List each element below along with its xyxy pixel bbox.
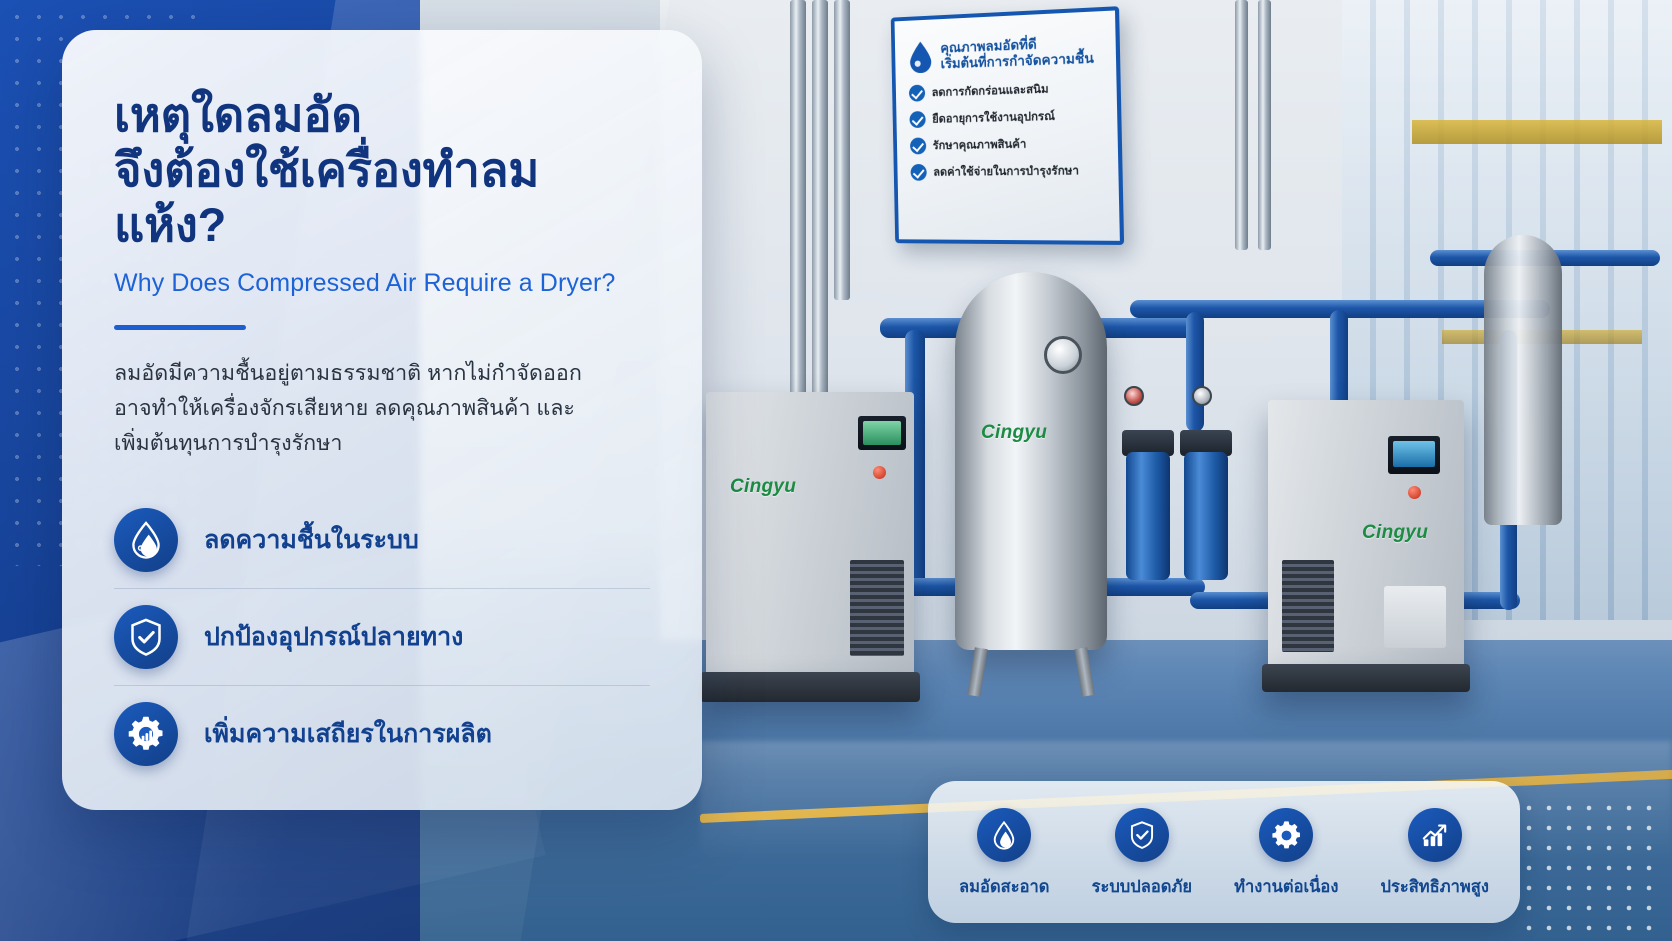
feature-item-protection: ปกป้องอุปกรณ์ปลายทาง bbox=[114, 588, 650, 685]
pressure-gauge bbox=[1044, 336, 1082, 374]
emergency-stop-button bbox=[873, 466, 886, 479]
filter-gauge bbox=[1192, 386, 1212, 406]
brand-logo-compressor: Cingyu bbox=[730, 476, 796, 498]
compressor-base bbox=[700, 672, 920, 702]
feature-item-stability: เพิ่มความเสถียรในการผลิต bbox=[114, 685, 650, 782]
sign-item-label: ลดการกัดกร่อนและสนิม bbox=[932, 80, 1049, 102]
filter-gauge bbox=[1124, 386, 1144, 406]
water-drop-icon bbox=[977, 808, 1031, 862]
sign-header: คุณภาพลมอัดที่ดี เริ่มต้นที่การกำจัดความ… bbox=[908, 34, 1104, 75]
sign-list-item: ลดการกัดกร่อนและสนิม bbox=[909, 79, 1104, 103]
benefit-label: ทำงานต่อเนื่อง bbox=[1234, 874, 1338, 900]
background-tank bbox=[1484, 235, 1562, 525]
check-circle-icon bbox=[909, 85, 925, 102]
benefit-label: ลมอัดสะอาด bbox=[959, 874, 1049, 900]
air-filter-vessel bbox=[1184, 452, 1228, 580]
air-receiver-tank: Cingyu bbox=[955, 272, 1107, 650]
dot-pattern-bottom-right bbox=[1519, 798, 1664, 933]
air-filter-vessel bbox=[1126, 452, 1170, 580]
heading-line-1: เหตุใดลมอัด bbox=[114, 88, 362, 141]
check-circle-icon bbox=[909, 111, 925, 128]
dryer-vent bbox=[1282, 560, 1334, 652]
benefit-label: ประสิทธิภาพสูง bbox=[1381, 874, 1489, 900]
steel-pipe bbox=[1235, 0, 1248, 250]
feature-label: ลดความชื้นในระบบ bbox=[204, 520, 419, 560]
air-dryer-unit: Cingyu bbox=[1268, 400, 1464, 672]
check-circle-icon bbox=[910, 138, 926, 155]
check-circle-icon bbox=[910, 164, 926, 181]
blue-pipe-vertical bbox=[1186, 312, 1204, 432]
benefit-label: ระบบปลอดภัย bbox=[1092, 874, 1192, 900]
shield-check-icon bbox=[1115, 808, 1169, 862]
dryer-base bbox=[1262, 664, 1470, 692]
steel-pipe bbox=[1258, 0, 1271, 250]
benefit-continuous-operation: ทำงานต่อเนื่อง bbox=[1234, 808, 1338, 900]
compressor-control-panel bbox=[858, 416, 906, 450]
promo-banner: Cingyu Cingyu Cingyu bbox=[0, 0, 1672, 941]
compressor-vent bbox=[850, 560, 904, 656]
dryer-control-panel bbox=[1388, 436, 1440, 474]
feature-item-humidity: ลดความชื้นในระบบ bbox=[114, 492, 650, 588]
dryer-label-plate bbox=[1384, 586, 1446, 648]
mezzanine-rail bbox=[1412, 120, 1662, 144]
tank-leg bbox=[1074, 647, 1094, 696]
content-card: เหตุใดลมอัด จึงต้องใช้เครื่องทำลมแห้ง? W… bbox=[62, 30, 702, 810]
feature-label: เพิ่มความเสถียรในการผลิต bbox=[204, 714, 492, 754]
feature-label: ปกป้องอุปกรณ์ปลายทาง bbox=[204, 617, 463, 657]
gear-chart-icon bbox=[114, 702, 178, 766]
title-divider bbox=[114, 325, 246, 330]
wall-sign-board: คุณภาพลมอัดที่ดี เริ่มต้นที่การกำจัดความ… bbox=[891, 6, 1124, 245]
page-title: เหตุใดลมอัด จึงต้องใช้เครื่องทำลมแห้ง? bbox=[114, 88, 650, 253]
growth-chart-icon bbox=[1408, 808, 1462, 862]
benefit-safe-system: ระบบปลอดภัย bbox=[1092, 808, 1192, 900]
brand-logo-dryer: Cingyu bbox=[1362, 522, 1428, 544]
steel-pipe bbox=[812, 0, 828, 430]
benefit-high-efficiency: ประสิทธิภาพสูง bbox=[1381, 808, 1489, 900]
sign-list-item: รักษาคุณภาพสินค้า bbox=[910, 134, 1106, 155]
shield-check-icon bbox=[114, 605, 178, 669]
body-paragraph: ลมอัดมีความชื้นอยู่ตามธรรมชาติ หากไม่กำจ… bbox=[114, 356, 584, 460]
sign-item-label: ยืดอายุการใช้งานอุปกรณ์ bbox=[932, 108, 1055, 129]
gear-icon bbox=[1259, 808, 1313, 862]
sign-list-item: ลดค่าใช้จ่ายในการบำรุงรักษา bbox=[910, 162, 1106, 182]
sign-item-label: ลดค่าใช้จ่ายในการบำรุงรักษา bbox=[933, 162, 1079, 181]
subtitle-english: Why Does Compressed Air Require a Dryer? bbox=[114, 269, 650, 298]
dryer-power-button bbox=[1408, 486, 1421, 499]
water-drop-icon bbox=[114, 508, 178, 572]
water-drop-icon bbox=[908, 41, 933, 73]
benefits-bar: ลมอัดสะอาด ระบบปลอดภัย ทำงานต่อเนื่อง bbox=[928, 781, 1520, 923]
tank-leg bbox=[967, 647, 987, 696]
heading-line-2: จึงต้องใช้เครื่องทำลมแห้ง? bbox=[114, 143, 650, 253]
benefit-clean-air: ลมอัดสะอาด bbox=[959, 808, 1049, 900]
feature-list: ลดความชื้นในระบบ ปกป้องอุปกรณ์ปลายทาง bbox=[114, 492, 650, 782]
steel-pipe bbox=[834, 0, 850, 300]
sign-list-item: ยืดอายุการใช้งานอุปกรณ์ bbox=[909, 106, 1105, 129]
sign-item-label: รักษาคุณภาพสินค้า bbox=[933, 136, 1027, 155]
brand-logo-tank: Cingyu bbox=[981, 422, 1047, 444]
air-compressor-unit: Cingyu bbox=[706, 392, 914, 680]
steel-pipe bbox=[790, 0, 806, 430]
